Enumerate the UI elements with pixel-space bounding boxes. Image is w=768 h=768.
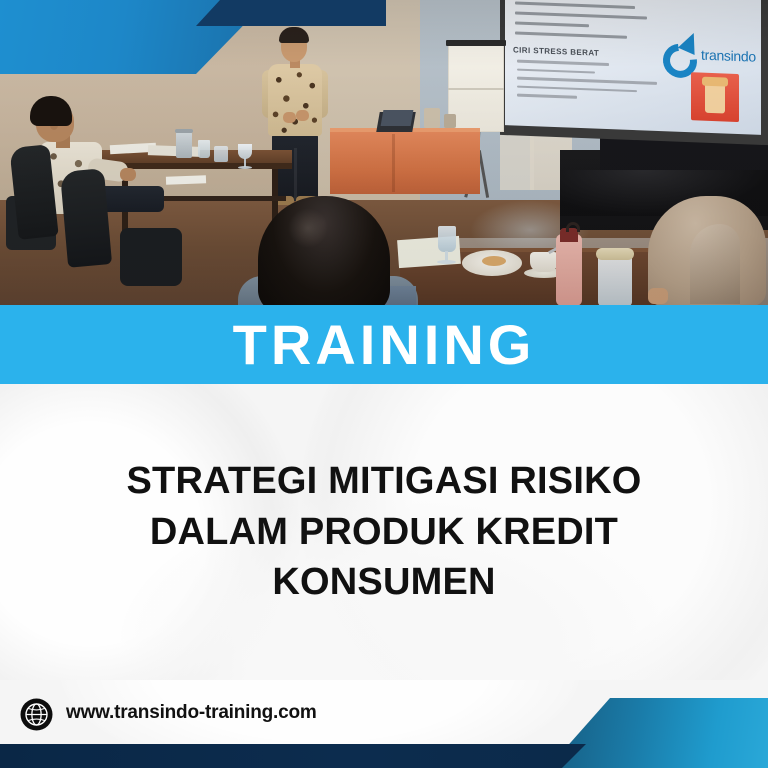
geometric-accent-navy — [196, 0, 386, 26]
title-section: STRATEGI MITIGASI RISIKO DALAM PRODUK KR… — [0, 384, 768, 680]
training-session-photo: CIRI STRESS BERAT transindo — [0, 0, 768, 306]
training-banner: TRAINING — [0, 305, 768, 384]
website-url[interactable]: www.transindo-training.com — [66, 702, 317, 724]
globe-icon — [20, 698, 53, 731]
training-poster: CIRI STRESS BERAT transindo — [0, 0, 768, 768]
title-line-2: DALAM PRODUK KREDIT — [150, 507, 618, 558]
title-line-3: KONSUMEN — [272, 557, 495, 608]
page-title: STRATEGI MITIGASI RISIKO DALAM PRODUK KR… — [0, 384, 768, 680]
footer-navy-bar — [0, 744, 586, 768]
title-line-1: STRATEGI MITIGASI RISIKO — [127, 456, 642, 507]
banner-label: TRAINING — [233, 317, 536, 373]
